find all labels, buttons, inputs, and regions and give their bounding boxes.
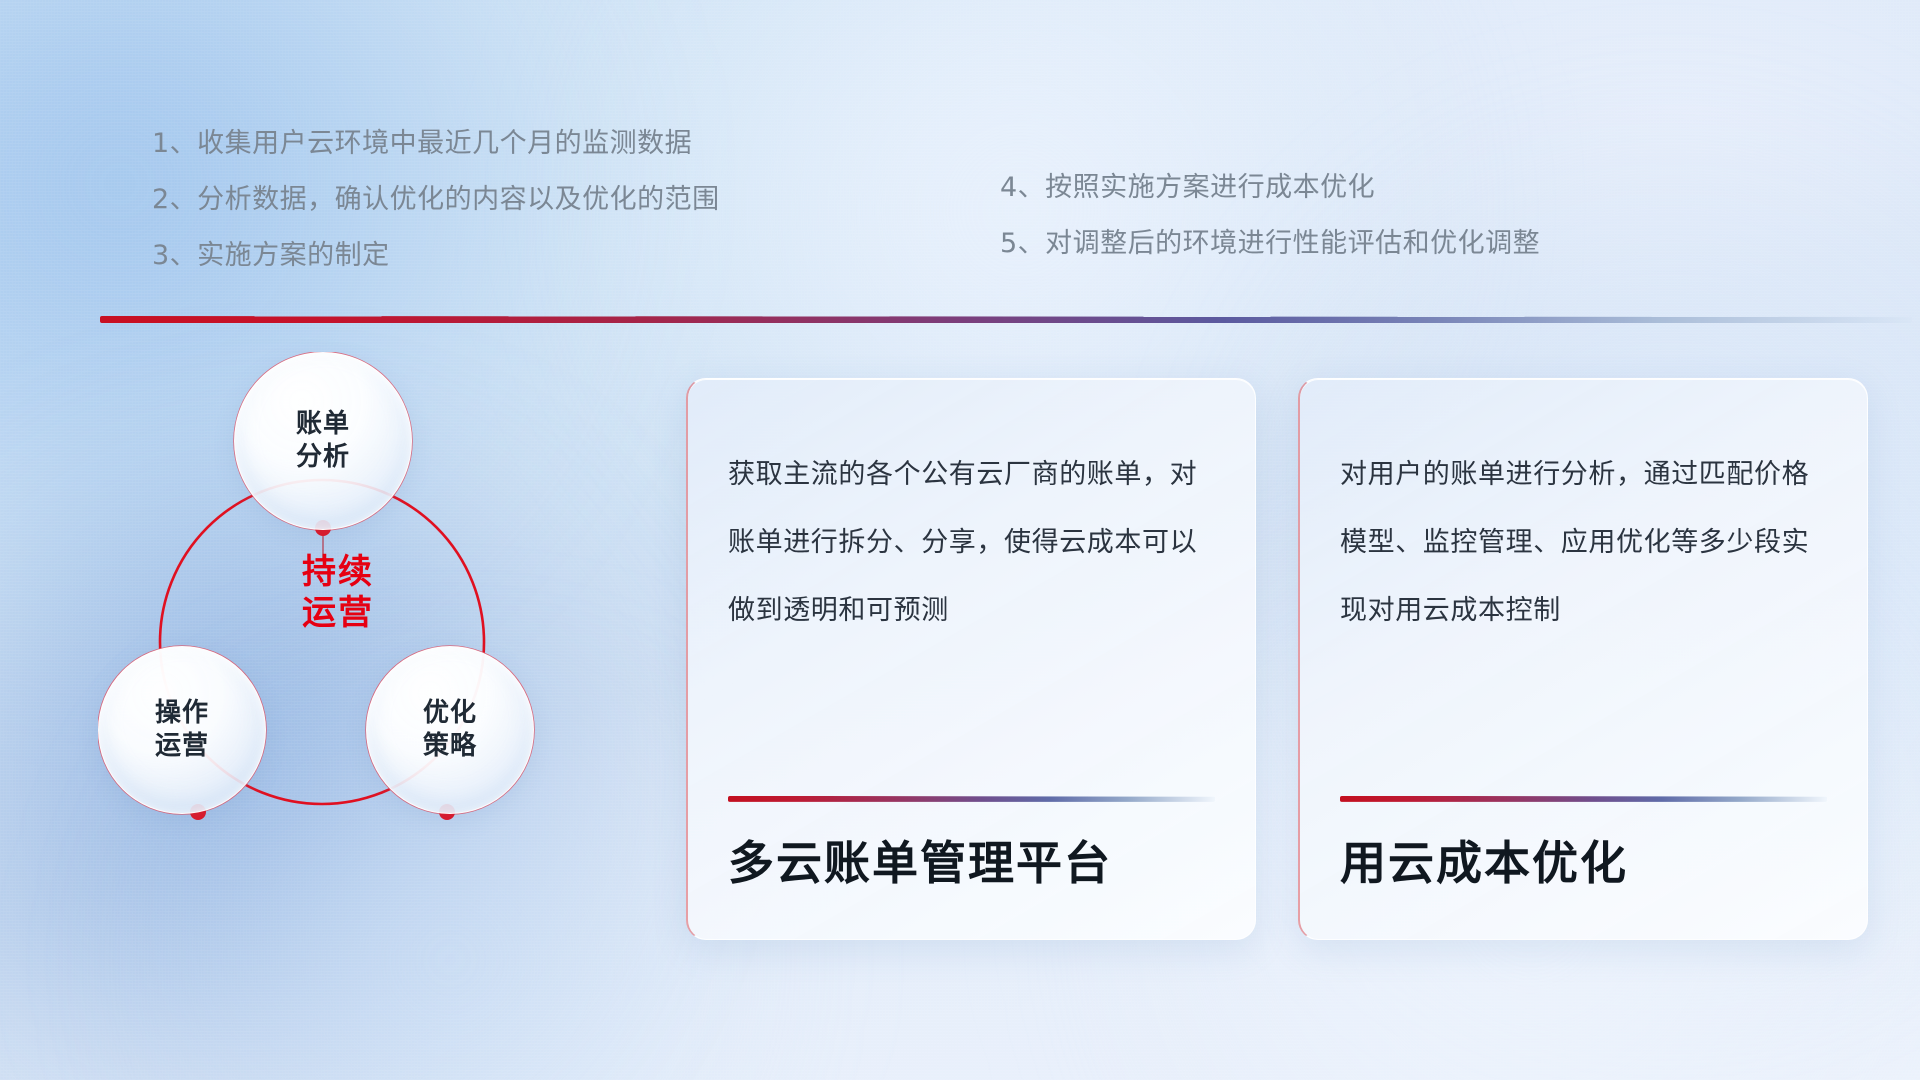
venn-diagram: 账单 分析 操作 运营 优化 策略 持续 运营	[98, 352, 638, 932]
bullet-list-right: 4、按照实施方案进行成本优化 5、对调整后的环境进行性能评估和优化调整	[1000, 160, 1540, 272]
venn-bubble-label-line1: 账单	[296, 408, 350, 441]
card-title: 多云账单管理平台	[728, 802, 1215, 891]
feature-card-cost-optimization[interactable]: 对用户的账单进行分析，通过匹配价格模型、监控管理、应用优化等多少段实现对用云成本…	[1298, 378, 1868, 940]
venn-center-label-line1: 持续	[248, 552, 428, 593]
bullet-list-left: 1、收集用户云环境中最近几个月的监测数据 2、分析数据，确认优化的内容以及优化的…	[152, 116, 720, 284]
card-title: 用云成本优化	[1340, 802, 1827, 891]
venn-bubble-operations[interactable]: 操作 运营	[98, 646, 266, 814]
feature-card-multicloud-billing[interactable]: 获取主流的各个公有云厂商的账单，对账单进行拆分、分享，使得云成本可以做到透明和可…	[686, 378, 1256, 940]
card-divider	[1340, 796, 1827, 802]
bullet-item: 5、对调整后的环境进行性能评估和优化调整	[1000, 216, 1540, 272]
venn-bubble-label-line2: 运营	[155, 730, 209, 763]
card-divider	[728, 796, 1215, 802]
bullet-item: 2、分析数据，确认优化的内容以及优化的范围	[152, 172, 720, 228]
venn-bubble-optimization-strategy[interactable]: 优化 策略	[366, 646, 534, 814]
section-divider	[100, 316, 1912, 323]
venn-center-label: 持续 运营	[248, 552, 428, 635]
venn-center-label-line2: 运营	[248, 593, 428, 634]
venn-bubble-label-line1: 操作	[155, 697, 209, 730]
bullet-item: 3、实施方案的制定	[152, 228, 720, 284]
card-body-text: 获取主流的各个公有云厂商的账单，对账单进行拆分、分享，使得云成本可以做到透明和可…	[728, 441, 1215, 645]
bullet-item: 4、按照实施方案进行成本优化	[1000, 160, 1540, 216]
venn-bubble-billing-analysis[interactable]: 账单 分析	[234, 352, 412, 530]
card-body-text: 对用户的账单进行分析，通过匹配价格模型、监控管理、应用优化等多少段实现对用云成本…	[1340, 441, 1827, 645]
bullet-item: 1、收集用户云环境中最近几个月的监测数据	[152, 116, 720, 172]
venn-bubble-label-line1: 优化	[423, 697, 477, 730]
venn-bubble-label-line2: 分析	[296, 441, 350, 474]
venn-bubble-label-line2: 策略	[423, 730, 477, 763]
